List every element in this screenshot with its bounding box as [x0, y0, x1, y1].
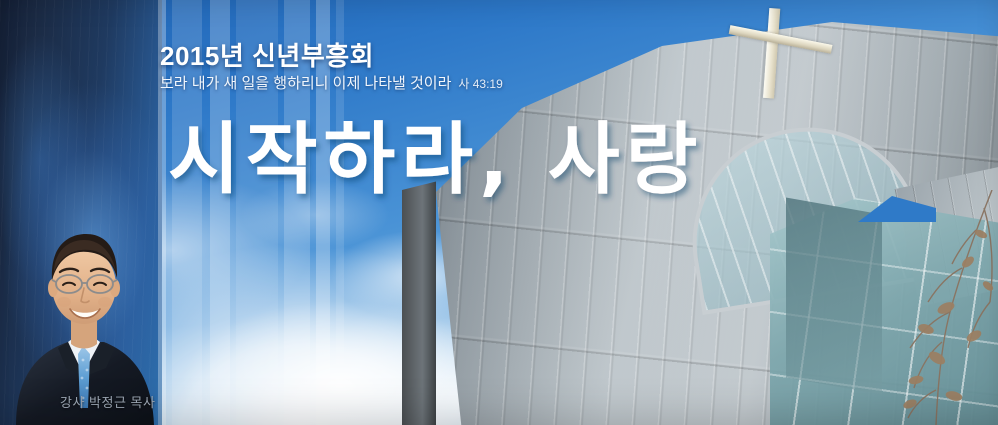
subtitle-verse: 보라 내가 새 일을 행하리니 이제 나타낼 것이라사 43:19: [160, 72, 503, 93]
building-edge-fascia: [402, 182, 436, 425]
cross-vertical-beam: [763, 8, 780, 99]
cross-icon: [722, 2, 841, 103]
page-title: 2015년 신년부흥회: [160, 36, 374, 73]
dry-branches-graphic: [880, 190, 998, 425]
glass-dark-facet: [786, 198, 882, 395]
headline-text: 시작하라, 사랑: [168, 115, 703, 205]
speaker-caption: 강사 박정근 목사: [60, 392, 155, 411]
cross-horizontal-beam: [729, 25, 833, 54]
verse-text: 보라 내가 새 일을 행하리니 이제 나타낼 것이라: [160, 75, 451, 92]
revival-banner: 강사 박정근 목사 2015년 신년부흥회 보라 내가 새 일을 행하리니 이제…: [0, 0, 998, 425]
scripture-reference: 사 43:19: [458, 77, 502, 91]
headline-calligraphy: 시작하라, 사랑: [168, 112, 728, 212]
